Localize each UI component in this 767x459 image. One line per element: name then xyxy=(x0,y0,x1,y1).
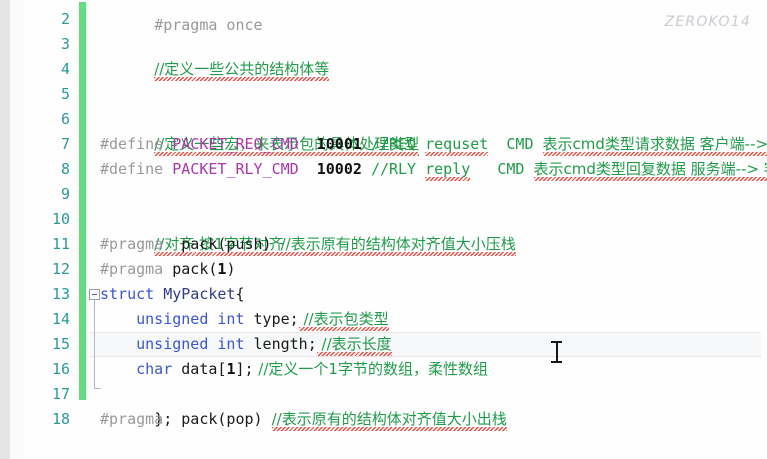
pragma-call: pack(push) xyxy=(163,235,280,253)
line-number: 16 xyxy=(30,357,70,382)
comment-slashes: // xyxy=(371,135,389,153)
code-line-2[interactable] xyxy=(86,7,154,32)
space xyxy=(299,135,317,153)
type-keyword: unsigned int xyxy=(100,310,245,328)
code-line-12[interactable]: #pragma pack(1) xyxy=(86,257,235,282)
comment-token-rly: RLY xyxy=(389,160,416,178)
comment-slashes: // xyxy=(371,160,389,178)
line-number: 6 xyxy=(30,107,70,132)
line-number: 17 xyxy=(30,382,70,407)
line-number: 8 xyxy=(30,157,70,182)
preprocessor-directive: #pragma xyxy=(100,235,163,253)
space xyxy=(488,135,506,153)
comment-text: //表示包类型 xyxy=(299,310,389,329)
space xyxy=(163,160,172,178)
preprocessor-directive: #define xyxy=(100,135,163,153)
semicolon: ; xyxy=(290,310,299,328)
code-line-5[interactable] xyxy=(86,82,154,107)
macro-name: PACKET_RLY_CMD xyxy=(172,160,298,178)
code-line-15[interactable]: unsigned int length; //表示长度 xyxy=(86,332,392,357)
code-line-17[interactable]: }; xyxy=(86,382,172,407)
pragma-call-suffix: ) xyxy=(226,260,235,278)
type-keyword: char xyxy=(100,360,172,378)
struct-name: MyPacket xyxy=(154,285,235,303)
line-number: 4 xyxy=(30,57,70,82)
mouse-text-cursor xyxy=(551,341,562,363)
fold-collapse-icon[interactable] xyxy=(89,289,100,300)
ibeam-bottom-cap xyxy=(551,361,562,363)
preprocessor-directive: #pragma xyxy=(100,260,163,278)
close-bracket: ] xyxy=(235,360,244,378)
member-name: length xyxy=(245,335,308,353)
code-line-8[interactable]: #define PACKET_RLY_CMD 10002 //RLY reply… xyxy=(86,157,767,182)
pragma-call-prefix: pack( xyxy=(163,260,217,278)
line-number: 9 xyxy=(30,182,70,207)
macro-value: 10001 xyxy=(317,135,362,153)
line-number: 10 xyxy=(30,207,70,232)
code-line-4[interactable] xyxy=(86,57,154,82)
space xyxy=(524,160,533,178)
space xyxy=(416,160,425,178)
line-number: 18 xyxy=(30,407,70,432)
open-brace: { xyxy=(235,285,244,303)
comment-token-req: REQ xyxy=(389,135,416,153)
pragma-call: pack(pop) xyxy=(163,410,271,428)
comment-text: //定义一个1字节的数组，柔性数组 xyxy=(254,360,488,378)
comment-text: //表示原有的结构体对齐值大小压栈 xyxy=(281,235,516,254)
ibeam-stem xyxy=(556,343,558,361)
space xyxy=(299,160,317,178)
struct-keyword: struct xyxy=(100,285,154,303)
code-line-10[interactable]: //对齐 按1字节对齐 xyxy=(86,207,284,232)
type-keyword: unsigned int xyxy=(100,335,245,353)
line-number: 7 xyxy=(30,132,70,157)
space xyxy=(362,135,371,153)
comment-text-cn: 表示cmd类型请求数据 客户端--> 服 xyxy=(543,135,767,154)
comment-token-cmd: CMD xyxy=(506,135,533,153)
line-number: 2 xyxy=(30,7,70,32)
code-text-area[interactable]: #pragma once //定义一些公共的结构体等 //定义一些宏，来表示包的… xyxy=(86,0,767,459)
comment-token-reply: reply xyxy=(425,160,470,179)
member-name: data xyxy=(172,360,217,378)
member-name: type xyxy=(245,310,290,328)
code-line-11[interactable]: #pragma pack(push) //表示原有的结构体对齐值大小压栈 xyxy=(86,232,516,257)
space xyxy=(470,160,497,178)
comment-token-cmd: CMD xyxy=(497,160,524,178)
space xyxy=(163,135,172,153)
line-number: 5 xyxy=(30,82,70,107)
line-number: 11 xyxy=(30,232,70,257)
space xyxy=(416,135,425,153)
code-editor[interactable]: 2 3 4 5 6 7 8 9 10 11 12 13 14 15 16 17 … xyxy=(0,0,767,459)
comment-text: //表示长度 xyxy=(317,335,392,354)
line-number: 13 xyxy=(30,282,70,307)
semicolon: ; xyxy=(308,335,317,353)
fold-range-line xyxy=(94,300,95,388)
code-line-13[interactable]: struct MyPacket{ xyxy=(86,282,245,307)
comment-text: //表示原有的结构体对齐值大小出栈 xyxy=(272,410,507,429)
code-line-7[interactable]: #define PACKET_REQ_CMD 10001 //REQ requs… xyxy=(86,132,767,157)
fold-range-end xyxy=(94,388,101,389)
comment-text: //定义一些公共的结构体等 xyxy=(154,60,329,79)
macro-value: 10002 xyxy=(317,160,362,178)
line-number: 15 xyxy=(30,332,70,357)
preprocessor-directive: #define xyxy=(100,160,163,178)
preprocessor-directive: #pragma xyxy=(100,410,163,428)
code-line-16[interactable]: char data[1]; //定义一个1字节的数组，柔性数组 xyxy=(86,357,488,382)
space xyxy=(534,135,543,153)
comment-token-requset: requset xyxy=(425,135,488,154)
semicolon: ; xyxy=(245,360,254,378)
watermark-text: ZEROKO14 xyxy=(665,14,751,30)
space xyxy=(362,160,371,178)
code-line-18[interactable]: #pragma pack(pop) //表示原有的结构体对齐值大小出栈 xyxy=(86,407,507,432)
line-number: 12 xyxy=(30,257,70,282)
code-line-14[interactable]: unsigned int type; //表示包类型 xyxy=(86,307,389,332)
code-line-3[interactable]: //定义一些公共的结构体等 xyxy=(86,32,329,57)
line-number: 14 xyxy=(30,307,70,332)
line-number: 3 xyxy=(30,32,70,57)
line-number-gutter[interactable]: 2 3 4 5 6 7 8 9 10 11 12 13 14 15 16 17 … xyxy=(0,0,86,459)
code-line-9[interactable] xyxy=(86,182,154,207)
code-line-6[interactable]: //定义一些宏，来表示包的具体处理类型 xyxy=(86,107,419,132)
comment-text-cn: 表示cmd类型回复数据 服务端--> 客 xyxy=(534,160,767,179)
macro-name: PACKET_REQ_CMD xyxy=(172,135,298,153)
